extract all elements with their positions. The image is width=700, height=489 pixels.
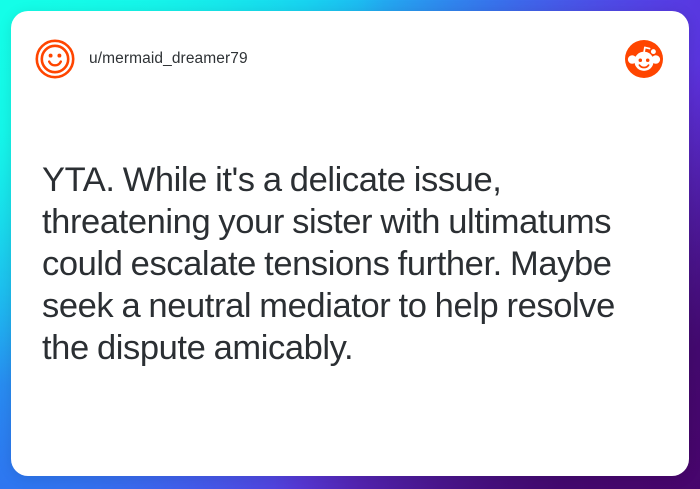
smiley-face-avatar-icon[interactable] — [35, 39, 75, 79]
post-text: YTA. While it's a delicate issue, threat… — [42, 159, 663, 369]
post-card: u/mermaid_dreamer79 YTA. While it's a de… — [11, 11, 689, 476]
username-label: u/mermaid_dreamer79 — [89, 50, 248, 68]
post-header: u/mermaid_dreamer79 — [11, 11, 689, 107]
reddit-snoo-logo-icon[interactable] — [625, 40, 663, 78]
